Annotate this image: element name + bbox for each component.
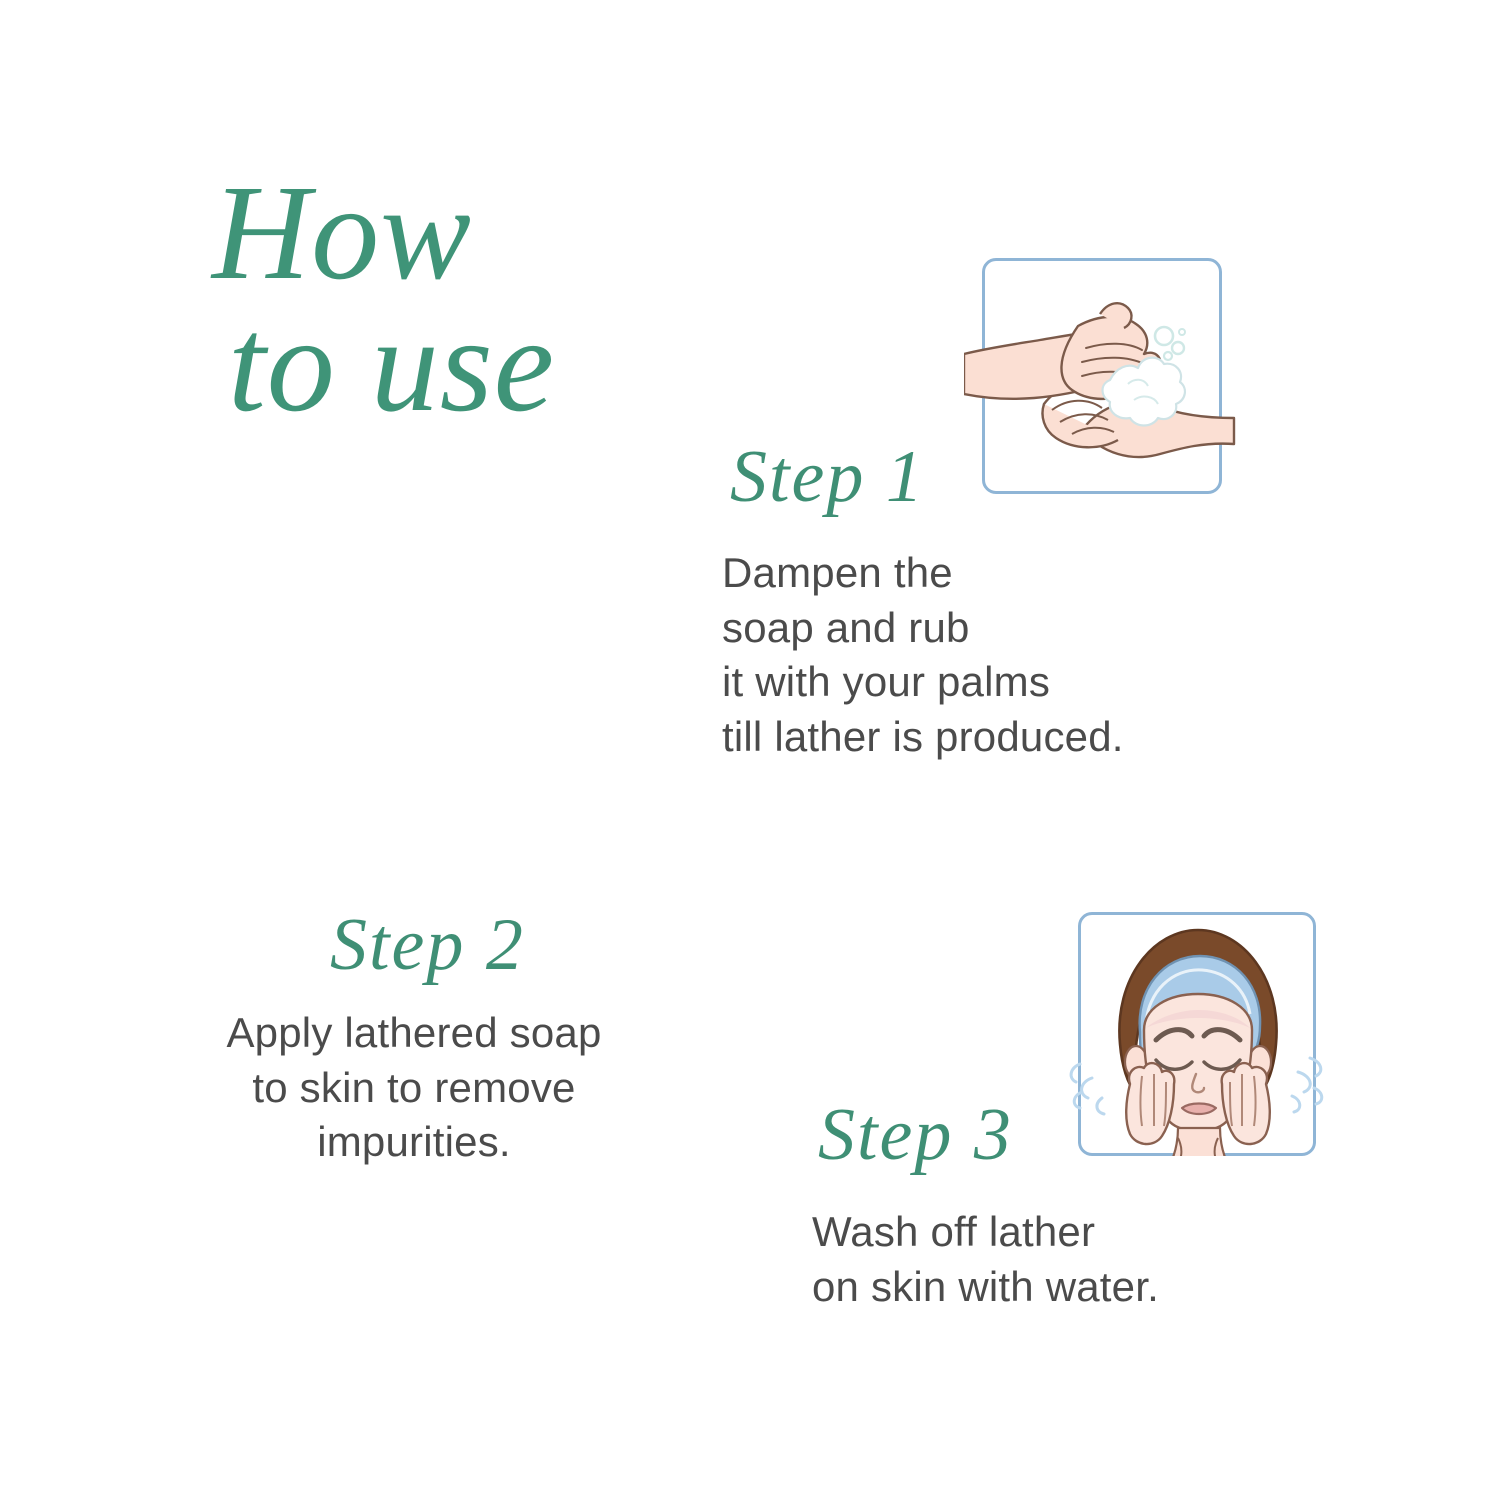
step-3-illustration-frame: [1078, 912, 1316, 1156]
step-1-description: Dampen the soap and rub it with your pal…: [722, 546, 1124, 764]
step-1-illustration-frame: [982, 258, 1222, 494]
step-3-label: Step 3: [818, 1098, 1013, 1172]
how-to-use-panel: How to use Step 1 Dampen the soap and ru…: [0, 0, 1500, 1500]
page-title-line-1: How: [212, 168, 852, 300]
step-3-description: Wash off lather on skin with water.: [812, 1205, 1159, 1314]
page-title: How to use: [212, 168, 852, 432]
page-title-line-2: to use: [228, 300, 852, 432]
step-2-label: Step 2: [330, 908, 525, 982]
step-1-label: Step 1: [730, 440, 925, 514]
step-2-description: Apply lathered soap to skin to remove im…: [148, 1006, 680, 1170]
